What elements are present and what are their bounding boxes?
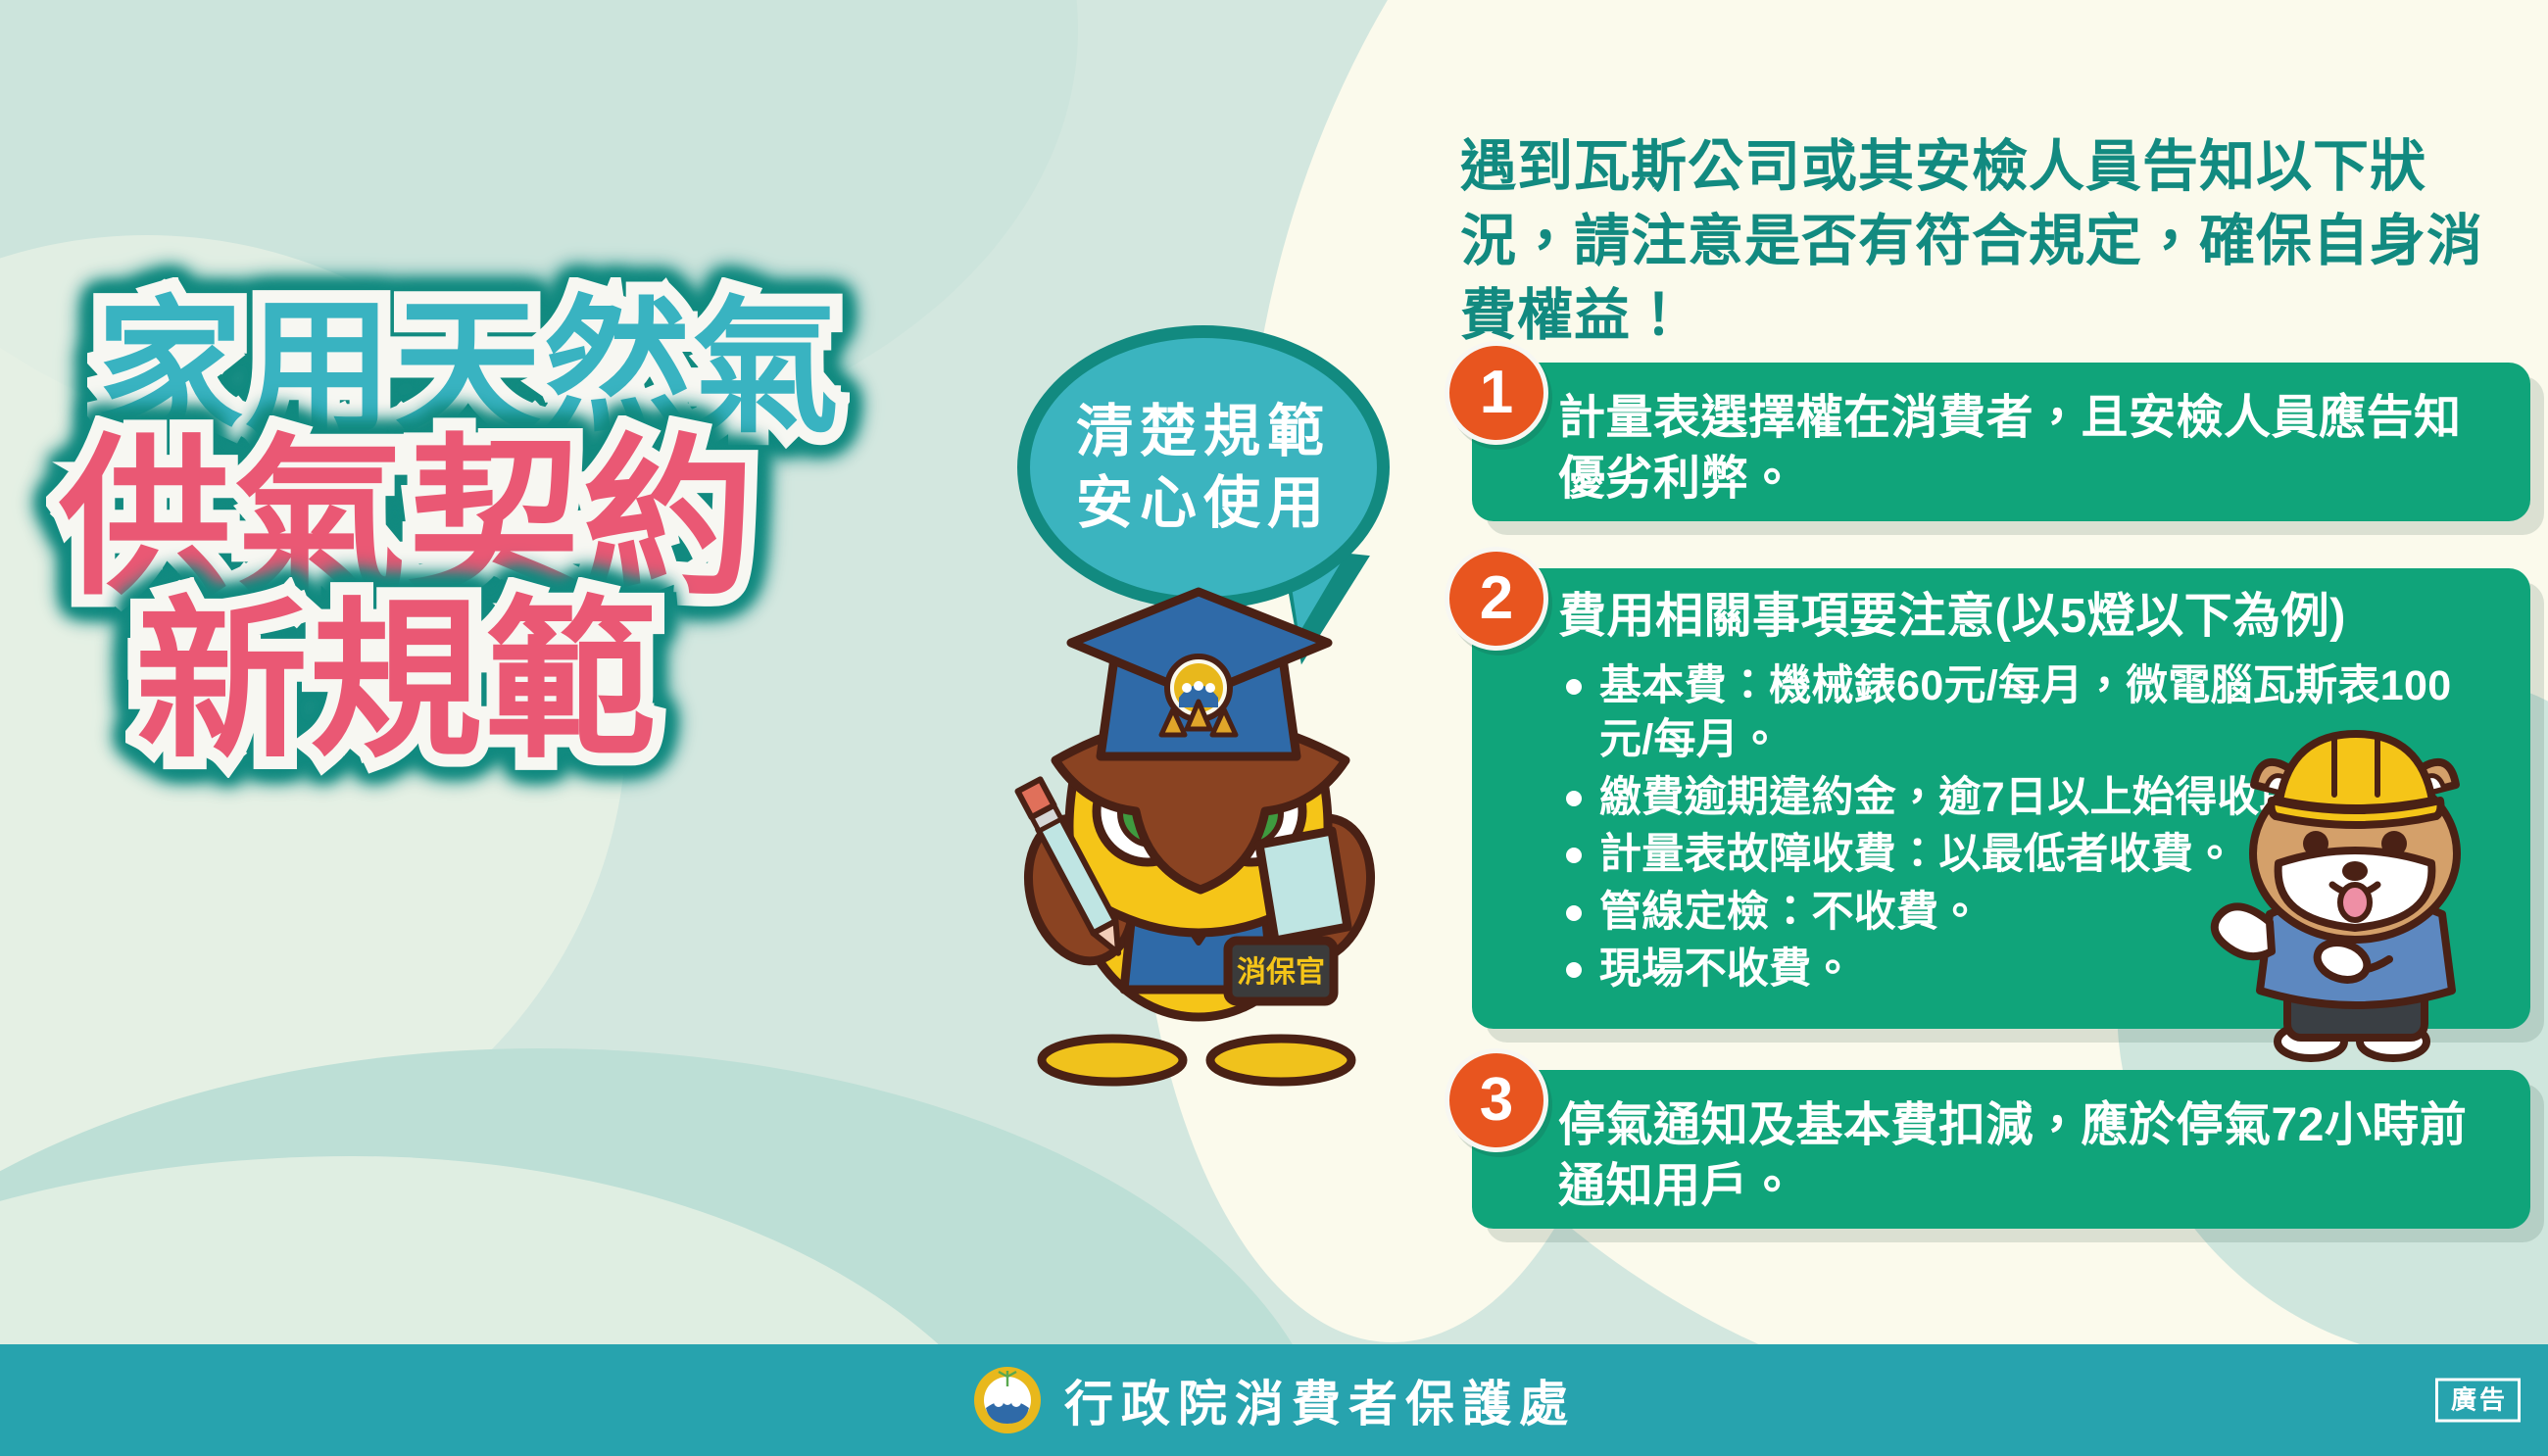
- bullet-dot-icon: [1566, 679, 1582, 695]
- bullet-text: 計量表故障收費：以最低者收費。: [1599, 831, 2236, 878]
- title-line-2: 供氣契約: [59, 433, 1039, 606]
- rule-card-3-number: 3: [1445, 1048, 1548, 1152]
- advertisement-badge: 廣告: [2435, 1379, 2521, 1423]
- bullet-dot-icon: [1566, 962, 1582, 978]
- gas-inspector-shiba-mascot: [2185, 730, 2528, 1063]
- title-line-1: 家用天然氣: [59, 294, 1039, 441]
- poster-left-column: 家用天然氣 供氣契約 新規範 清楚規範 安心使用: [0, 0, 1421, 1344]
- bullet-text: 管線定檢：不收費。: [1599, 889, 1982, 936]
- cpc-agency-logo-icon: [972, 1365, 1043, 1435]
- footer-bar: 行政院消費者保護處 廣告: [0, 1344, 2548, 1456]
- footer-brand: 行政院消費者保護處: [972, 1365, 1576, 1435]
- speech-bubble-line-2: 安心使用: [1076, 467, 1331, 539]
- rule-card-2-number: 2: [1445, 547, 1548, 651]
- owl-badge-text: 消保官: [1237, 956, 1325, 989]
- rule-card-1: 1 計量表選擇權在消費者，且安檢人員應告知優劣利弊。: [1472, 363, 2530, 521]
- footer-agency-name: 行政院消費者保護處: [1064, 1365, 1576, 1435]
- poster-right-column: 遇到瓦斯公司或其安檢人員告知以下狀況，請注意是否有符合規定，確保自身消費權益！ …: [1460, 0, 2548, 1344]
- rule-card-3-text: 停氣通知及基本費扣減，應於停氣72小時前通知用戶。: [1472, 1070, 2530, 1243]
- title-line-3: 新規範: [59, 596, 1039, 768]
- speech-bubble-line-1: 清楚規範: [1076, 396, 1331, 467]
- rule-card-3: 3 停氣通知及基本費扣減，應於停氣72小時前通知用戶。: [1472, 1070, 2530, 1229]
- bullet-text: 現場不收費。: [1599, 946, 1854, 993]
- poster-title: 家用天然氣 供氣契約 新規範: [59, 294, 1039, 774]
- intro-paragraph: 遇到瓦斯公司或其安檢人員告知以下狀況，請注意是否有符合規定，確保自身消費權益！: [1460, 130, 2519, 353]
- bullet-dot-icon: [1566, 848, 1582, 863]
- rule-card-2-heading: 費用相關事項要注意(以5燈以下為例): [1472, 568, 2530, 646]
- speech-bubble: 清楚規範 安心使用: [1017, 325, 1390, 609]
- bullet-dot-icon: [1566, 905, 1582, 921]
- rule-card-1-number: 1: [1445, 341, 1548, 445]
- rule-card-1-text: 計量表選擇權在消費者，且安檢人員應告知優劣利弊。: [1472, 363, 2530, 536]
- bullet-dot-icon: [1566, 791, 1582, 806]
- consumer-protection-owl-mascot: 消保官: [965, 578, 1436, 1088]
